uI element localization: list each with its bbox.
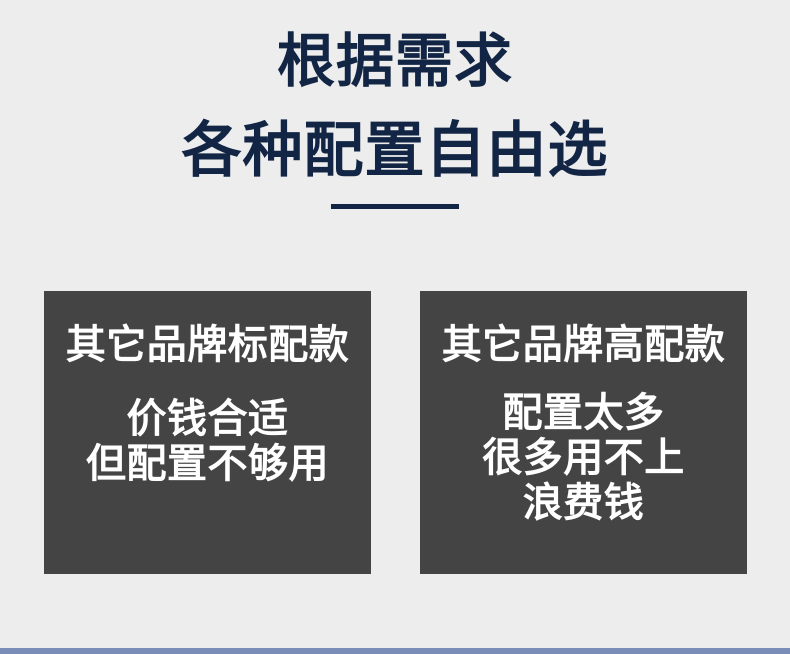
card-body-line: 价钱合适 <box>86 397 329 442</box>
card-body-line: 浪费钱 <box>482 481 685 526</box>
card-body-line: 很多用不上 <box>482 436 685 481</box>
divider-wrapper <box>0 204 790 209</box>
heading-line-2: 各种配置自由选 <box>0 114 790 188</box>
card-body-line: 配置太多 <box>482 391 685 436</box>
heading-block: 根据需求 各种配置自由选 <box>0 0 790 209</box>
heading-line-1: 根据需求 <box>0 26 790 98</box>
card-title: 其它品牌高配款 <box>442 321 726 369</box>
promo-banner: 根据需求 各种配置自由选 其它品牌标配款 价钱合适 但配置不够用 其它品牌高配款… <box>0 0 790 654</box>
heading-divider <box>331 204 459 209</box>
card-standard-config: 其它品牌标配款 价钱合适 但配置不够用 <box>44 291 371 574</box>
card-body: 价钱合适 但配置不够用 <box>86 397 329 487</box>
card-body-line: 但配置不够用 <box>86 442 329 487</box>
card-body: 配置太多 很多用不上 浪费钱 <box>482 391 685 526</box>
bottom-accent-strip <box>0 648 790 654</box>
comparison-cards: 其它品牌标配款 价钱合适 但配置不够用 其它品牌高配款 配置太多 很多用不上 浪… <box>44 291 747 574</box>
card-high-config: 其它品牌高配款 配置太多 很多用不上 浪费钱 <box>420 291 747 574</box>
card-title: 其它品牌标配款 <box>66 321 350 369</box>
